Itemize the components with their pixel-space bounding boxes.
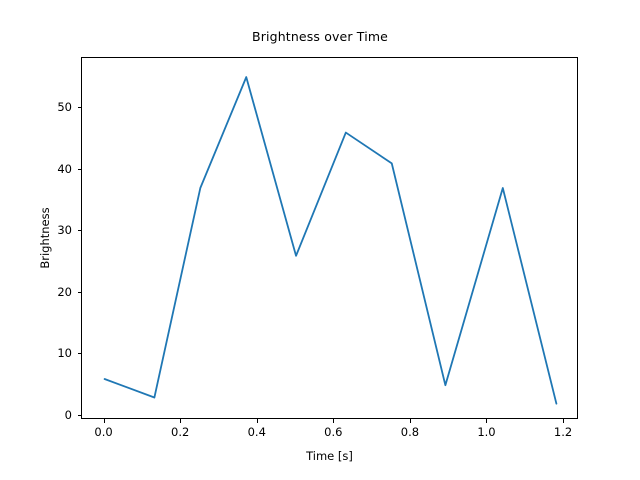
y-tick-mark — [78, 169, 82, 170]
y-tick-mark — [78, 107, 82, 108]
y-tick-mark — [78, 353, 82, 354]
x-tick-mark — [410, 419, 411, 423]
x-tick-label: 0.6 — [324, 425, 342, 439]
y-tick-label: 50 — [57, 100, 72, 114]
brightness-line — [105, 77, 557, 404]
x-tick-label: 0.8 — [401, 425, 419, 439]
y-tick-label: 0 — [65, 408, 72, 422]
y-tick-mark — [78, 292, 82, 293]
x-tick-label: 0.4 — [248, 425, 266, 439]
y-tick-mark — [78, 415, 82, 416]
y-tick-label: 30 — [57, 223, 72, 237]
x-axis-label: Time [s] — [81, 449, 578, 463]
x-tick-label: 1.2 — [554, 425, 572, 439]
y-axis-label: Brightness — [38, 57, 52, 419]
y-tick-mark — [78, 230, 82, 231]
x-tick-label: 1.0 — [477, 425, 495, 439]
x-tick-mark — [333, 419, 334, 423]
x-tick-mark — [257, 419, 258, 423]
x-tick-mark — [486, 419, 487, 423]
x-tick-label: 0.2 — [171, 425, 189, 439]
chart-title: Brightness over Time — [0, 29, 640, 44]
y-tick-label: 10 — [57, 346, 72, 360]
x-tick-mark — [180, 419, 181, 423]
x-tick-mark — [104, 419, 105, 423]
line-series-svg — [82, 58, 579, 420]
y-tick-label: 40 — [57, 162, 72, 176]
x-tick-mark — [563, 419, 564, 423]
x-tick-label: 0.0 — [94, 425, 112, 439]
chart-figure: Brightness over Time Time [s] Brightness… — [0, 0, 640, 480]
y-tick-label: 20 — [57, 285, 72, 299]
plot-axes — [81, 57, 578, 419]
